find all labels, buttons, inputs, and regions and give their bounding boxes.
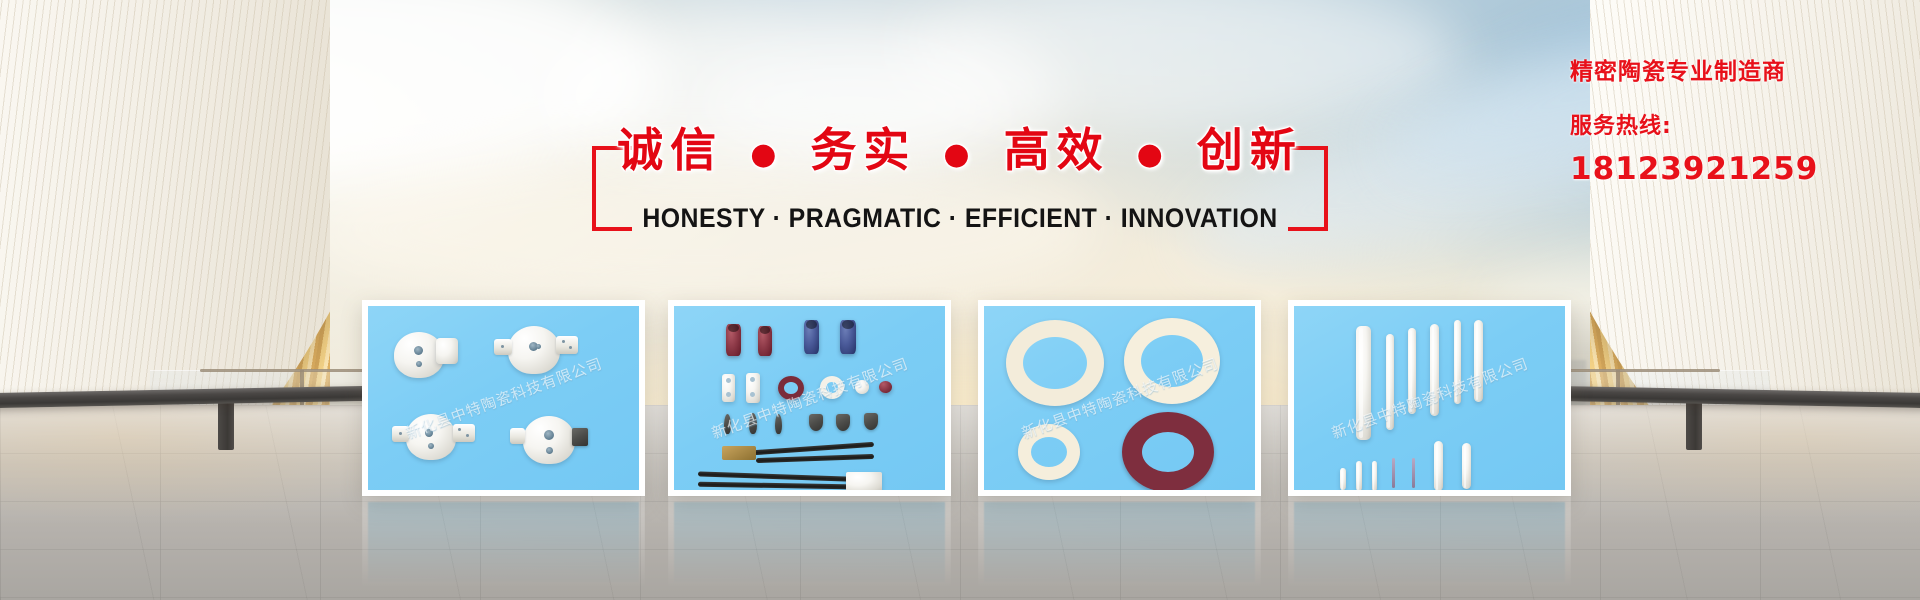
panel-watermark: 新化县中特陶瓷科技有限公司 (674, 337, 945, 459)
ceramic-plate (746, 373, 760, 403)
product-panel-3[interactable]: 新化县中特陶瓷科技有限公司 (978, 300, 1261, 496)
company-tagline: 精密陶瓷专业制造商 (1570, 52, 1818, 86)
contact-block: 精密陶瓷专业制造商 服务热线: 18123921259 (1570, 52, 1818, 187)
ceramic-rod-short (1372, 461, 1377, 490)
mounting-tab (453, 424, 475, 442)
product-panel-4[interactable]: 新化县中特陶瓷科技有限公司 (1288, 300, 1571, 496)
ceramic-tube (1462, 443, 1471, 489)
holder-back (436, 338, 458, 364)
ceramic-ring-maroon (778, 376, 804, 400)
slogan-word-2: 务实 (810, 123, 916, 177)
metal-cap (836, 414, 850, 431)
slogan-english: HONESTY · PRAGMATIC · EFFICIENT · INNOVA… (77, 203, 1843, 234)
ceramic-seal-ring-small (1018, 424, 1080, 480)
product-panel-1[interactable]: 新化县中特陶瓷科技有限公司 (362, 300, 645, 496)
ceramic-seal-ring-maroon (1122, 412, 1214, 490)
mounting-tab (556, 336, 578, 354)
ceramic-rod (1430, 324, 1439, 416)
black-lead-wire (698, 471, 848, 481)
ceramic-seal-ring-large (1006, 320, 1104, 406)
ceramic-tube-navy (804, 320, 819, 354)
mounting-tab (494, 339, 512, 355)
slogan-separator: ● (1133, 137, 1174, 172)
ceramic-rod (1454, 320, 1461, 404)
ceramic-lamp-holder (406, 414, 456, 460)
ceramic-pin-lavender (1412, 458, 1415, 488)
brass-terminal (722, 446, 756, 460)
ceramic-pin-lavender (1392, 458, 1395, 488)
ceramic-lamp-holder (508, 326, 560, 374)
slogan-separator: ● (746, 137, 787, 172)
ceramic-tube-navy (840, 320, 856, 354)
ceramic-tube-maroon (726, 324, 741, 356)
metal-cap (809, 414, 823, 431)
ceramic-rod (1474, 320, 1483, 402)
mounting-tab (510, 428, 525, 444)
ceramic-ring-white (820, 376, 844, 399)
slogan-separator: ● (939, 137, 980, 172)
ceramic-seal-ring-large (1124, 318, 1220, 404)
ceramic-rod-short (1356, 461, 1362, 490)
ceramic-rod (1386, 334, 1394, 430)
ceramic-rod (1408, 328, 1416, 414)
ceramic-connector-block (846, 472, 882, 490)
product-panel-2[interactable]: 新化县中特陶瓷科技有限公司 (668, 300, 951, 496)
ceramic-tube-maroon (758, 326, 772, 356)
ceramic-pin (749, 413, 757, 434)
black-lead-wire (698, 482, 848, 490)
ceramic-disc (855, 380, 869, 394)
ceramic-rod (1356, 326, 1371, 440)
mounting-tab (392, 426, 409, 442)
slogan-word-4: 创新 (1197, 123, 1303, 177)
ceramic-rod-short (1340, 468, 1346, 490)
slogan-word-1: 诚信 (617, 123, 723, 177)
hero-banner: 新化县中特陶瓷科技有限公司 (0, 0, 1920, 600)
slogan-word-3: 高效 (1004, 123, 1110, 177)
ceramic-pin (724, 414, 731, 434)
hotline-number[interactable]: 18123921259 (1570, 151, 1818, 187)
black-lead-wire (756, 454, 874, 463)
black-lead-wire (754, 442, 874, 455)
metal-cap (864, 413, 878, 430)
hotline-label: 服务热线: (1570, 108, 1818, 140)
ceramic-pin (775, 414, 782, 434)
ceramic-lamp-holder (523, 416, 575, 464)
metal-contact (572, 428, 588, 446)
ceramic-disc-maroon (879, 381, 892, 393)
ceramic-plate (722, 374, 735, 402)
ceramic-tube (1434, 441, 1443, 490)
